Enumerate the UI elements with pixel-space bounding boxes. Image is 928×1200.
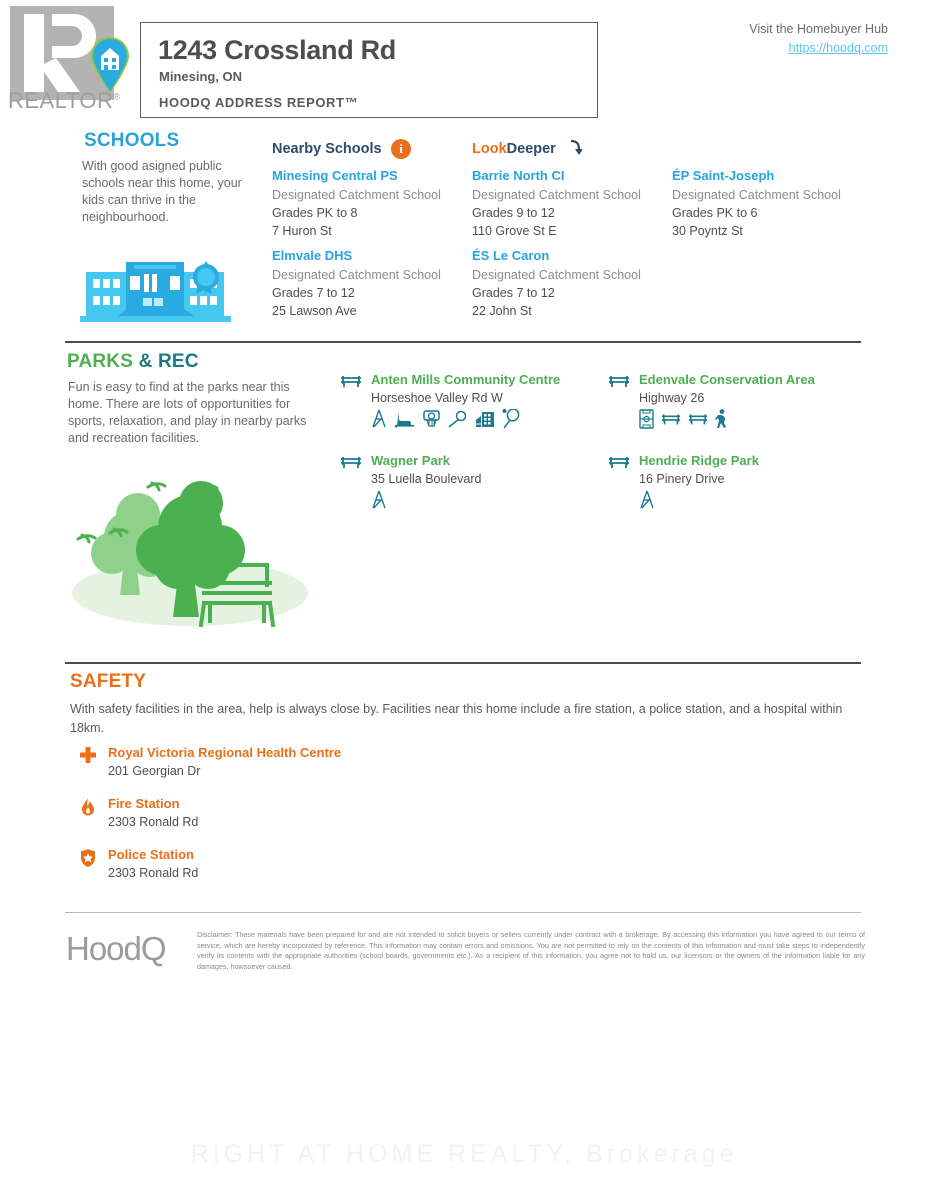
soccer-field-icon xyxy=(639,409,654,429)
report-label: HOODQ ADDRESS REPORT™ xyxy=(159,95,358,110)
hospital-cross-icon xyxy=(78,746,98,766)
school-name: Elmvale DHS xyxy=(272,248,482,263)
baseball-icon xyxy=(448,411,468,428)
safety-entry: Royal Victoria Regional Health Centre 20… xyxy=(78,745,478,778)
park-name: Anten Mills Community Centre xyxy=(371,372,610,387)
park-trees-bench-illustration xyxy=(68,465,313,630)
lookdeeper-heading: LookDeeper xyxy=(472,141,556,157)
parks-title-b: & REC xyxy=(139,351,199,372)
hoodq-logo: HoodQ xyxy=(66,930,166,968)
school-building-illustration xyxy=(78,248,233,330)
park-amenities xyxy=(371,489,610,511)
playground-icon xyxy=(639,490,656,510)
schools-blurb: With good asigned public schools near th… xyxy=(82,158,260,226)
park-address: Horseshoe Valley Rd W xyxy=(371,391,610,405)
picnic-table-icon xyxy=(688,411,708,427)
school-name: Minesing Central PS xyxy=(272,168,482,183)
school-name: ÉS Le Caron xyxy=(472,248,682,263)
parks-title-a: PARKS xyxy=(67,351,133,372)
safety-name: Police Station xyxy=(108,847,478,862)
school-address: 110 Grove St E xyxy=(472,222,682,240)
school-entry: ÉS Le Caron Designated Catchment School … xyxy=(472,248,682,320)
park-amenities xyxy=(639,408,878,430)
playground-icon xyxy=(371,490,388,510)
footer-divider xyxy=(65,912,861,913)
info-icon[interactable]: i xyxy=(391,139,411,159)
school-address: 7 Huron St xyxy=(272,222,482,240)
park-name: Hendrie Ridge Park xyxy=(639,453,878,468)
park-address: 16 Pinery Drive xyxy=(639,472,878,486)
safety-divider xyxy=(65,662,861,664)
map-pin-home-icon xyxy=(88,36,132,94)
tennis-racquet-icon xyxy=(502,409,520,429)
school-address: 30 Poyntz St xyxy=(672,222,882,240)
lookdeeper-label-b: Deeper xyxy=(507,141,556,157)
nearby-schools-heading: Nearby Schools xyxy=(272,141,382,157)
basketball-hoop-icon xyxy=(422,410,441,429)
school-type: Designated Catchment School xyxy=(272,266,482,284)
park-address: 35 Luella Boulevard xyxy=(371,472,610,486)
school-grades: Grades 7 to 12 xyxy=(272,284,482,302)
lookdeeper-label-a: Look xyxy=(472,141,507,157)
park-address: Highway 26 xyxy=(639,391,878,405)
fire-flame-icon xyxy=(78,797,98,817)
park-name: Wagner Park xyxy=(371,453,610,468)
safety-section-title: SAFETY xyxy=(70,671,146,693)
school-grades: Grades 9 to 12 xyxy=(472,204,682,222)
community-centre-icon xyxy=(475,411,495,428)
address-city: Minesing, ON xyxy=(159,69,242,84)
school-type: Designated Catchment School xyxy=(472,266,682,284)
safety-entry: Fire Station 2303 Ronald Rd xyxy=(78,796,478,829)
school-type: Designated Catchment School xyxy=(272,186,482,204)
school-name: ÉP Saint-Joseph xyxy=(672,168,882,183)
parks-blurb: Fun is easy to find at the parks near th… xyxy=(68,379,318,447)
ice-skate-icon xyxy=(395,410,415,428)
safety-blurb: With safety facilities in the area, help… xyxy=(70,700,870,738)
park-name: Edenvale Conservation Area xyxy=(639,372,878,387)
school-grades: Grades PK to 8 xyxy=(272,204,482,222)
park-entry: Edenvale Conservation Area Highway 26 xyxy=(608,372,878,430)
playground-icon xyxy=(371,409,388,429)
parks-section-title: PARKS & REC xyxy=(67,351,199,373)
trail-walking-icon xyxy=(715,409,728,429)
picnic-table-icon xyxy=(661,411,681,427)
safety-address: 2303 Ronald Rd xyxy=(108,866,478,880)
school-type: Designated Catchment School xyxy=(672,186,882,204)
school-grades: Grades 7 to 12 xyxy=(472,284,682,302)
schools-section-title: SCHOOLS xyxy=(84,130,179,152)
brokerage-watermark: RIGHT AT HOME REALTY, Brokerage xyxy=(0,1140,928,1169)
safety-address: 201 Georgian Dr xyxy=(108,764,478,778)
school-entry: Elmvale DHS Designated Catchment School … xyxy=(272,248,482,320)
arrow-down-right-icon[interactable] xyxy=(568,140,582,156)
school-entry: Barrie North CI Designated Catchment Sch… xyxy=(472,168,682,240)
park-bench-icon xyxy=(608,455,630,469)
park-entry: Wagner Park 35 Luella Boulevard xyxy=(340,453,610,511)
visit-hub-label: Visit the Homebuyer Hub xyxy=(608,22,888,36)
page-title: 1243 Crossland Rd xyxy=(158,35,396,66)
safety-name: Royal Victoria Regional Health Centre xyxy=(108,745,478,760)
school-address: 22 John St xyxy=(472,302,682,320)
school-address: 25 Lawson Ave xyxy=(272,302,482,320)
park-entry: Anten Mills Community Centre Horseshoe V… xyxy=(340,372,610,430)
safety-name: Fire Station xyxy=(108,796,478,811)
safety-address: 2303 Ronald Rd xyxy=(108,815,478,829)
park-amenities xyxy=(639,489,878,511)
park-bench-icon xyxy=(340,374,362,388)
disclaimer-text: Disclaimer: These materials have been pr… xyxy=(197,930,865,972)
school-entry: ÉP Saint-Joseph Designated Catchment Sch… xyxy=(672,168,882,240)
school-name: Barrie North CI xyxy=(472,168,682,183)
school-grades: Grades PK to 6 xyxy=(672,204,882,222)
hoodq-url-link[interactable]: https://hoodq.com xyxy=(608,41,888,55)
school-type: Designated Catchment School xyxy=(472,186,682,204)
safety-entry: Police Station 2303 Ronald Rd xyxy=(78,847,478,880)
park-bench-icon xyxy=(340,455,362,469)
parks-divider xyxy=(65,341,861,343)
school-entry: Minesing Central PS Designated Catchment… xyxy=(272,168,482,240)
park-bench-icon xyxy=(608,374,630,388)
police-shield-icon xyxy=(78,848,98,868)
park-entry: Hendrie Ridge Park 16 Pinery Drive xyxy=(608,453,878,511)
park-amenities xyxy=(371,408,610,430)
